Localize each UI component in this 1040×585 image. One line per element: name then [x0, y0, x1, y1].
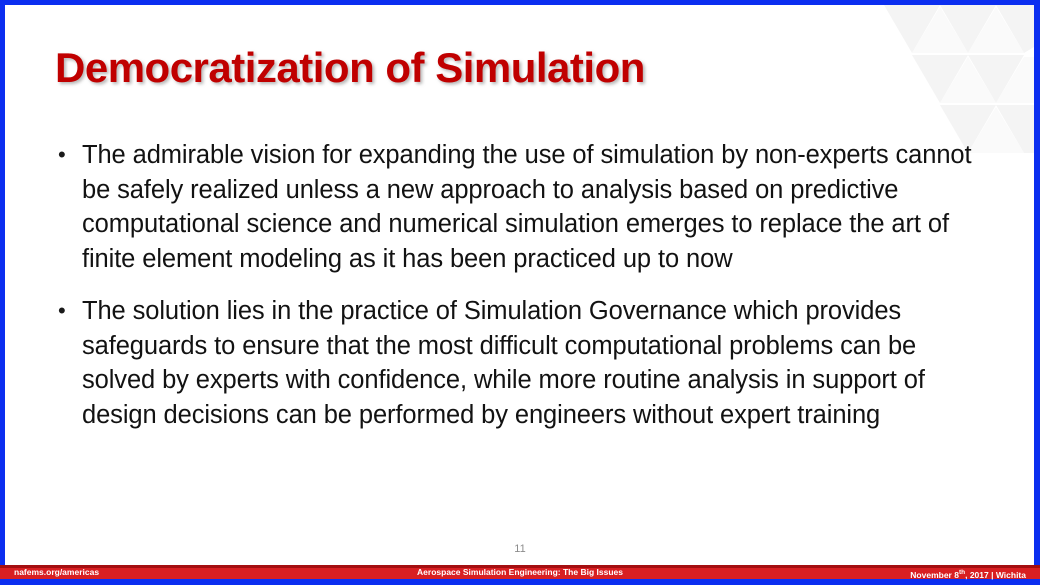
- list-item: • The solution lies in the practice of S…: [52, 294, 992, 432]
- slide-footer: nafems.org/americas Aerospace Simulation…: [0, 565, 1040, 585]
- slide-page-number: 11: [0, 543, 1040, 555]
- footer-date-location: November 8th, 2017 | Wichita: [910, 566, 1026, 579]
- bullet-point-icon: •: [52, 138, 82, 172]
- list-item: • The admirable vision for expanding the…: [52, 138, 992, 276]
- bullet-text: The admirable vision for expanding the u…: [82, 138, 992, 276]
- slide-title: Democratization of Simulation: [55, 44, 645, 92]
- footer-date: November 8: [910, 570, 959, 580]
- bullet-point-icon: •: [52, 294, 82, 328]
- bullet-text: The solution lies in the practice of Sim…: [82, 294, 992, 432]
- slide-border-right: [1034, 0, 1040, 585]
- presentation-slide: Democratization of Simulation • The admi…: [0, 0, 1040, 585]
- footer-year-location: , 2017 | Wichita: [965, 570, 1026, 580]
- slide-border-top: [0, 0, 1040, 5]
- slide-body: • The admirable vision for expanding the…: [52, 138, 992, 450]
- footer-event-title: Aerospace Simulation Engineering: The Bi…: [0, 566, 1040, 579]
- footer-event-title-text: Aerospace Simulation Engineering: The Bi…: [417, 566, 623, 579]
- footer-blue-band: [0, 579, 1040, 585]
- slide-border-left: [0, 0, 5, 585]
